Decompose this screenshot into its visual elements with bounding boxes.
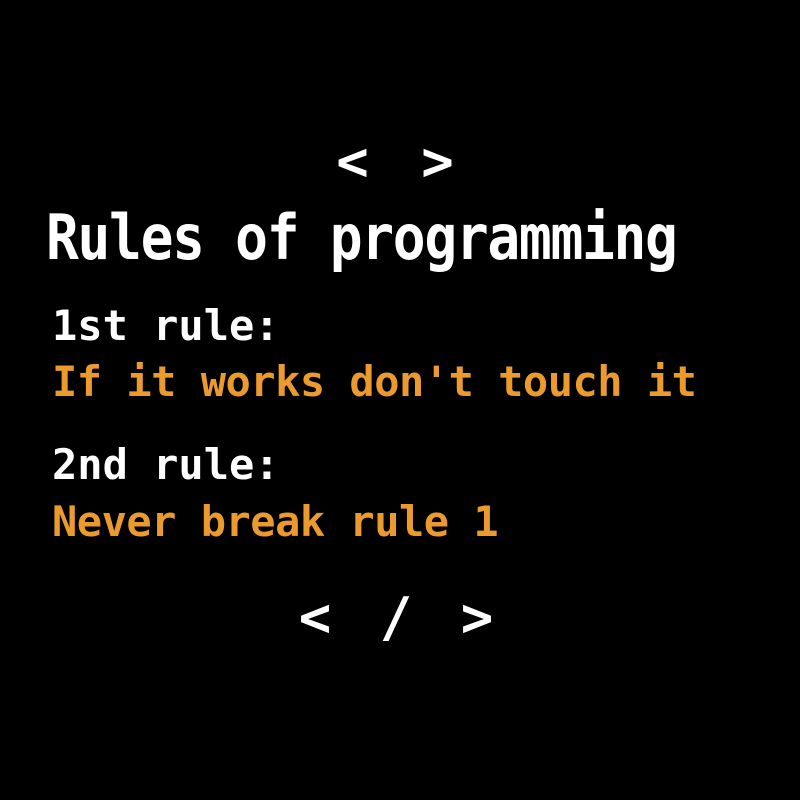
- poster-canvas: < > Rules of programming 1st rule: If it…: [0, 0, 800, 800]
- rule-label: 1st rule:: [52, 300, 792, 352]
- rule-label: 2nd rule:: [52, 438, 792, 492]
- rule-text: If it works don't touch it: [52, 352, 792, 412]
- code-tag-close-icon: < / >: [0, 586, 800, 650]
- rule-item: 2nd rule: Never break rule 1: [52, 438, 792, 552]
- rule-text: Never break rule 1: [52, 492, 792, 552]
- page-title: Rules of programming: [46, 198, 671, 278]
- code-tag-open-icon: < >: [0, 132, 800, 192]
- rule-item: 1st rule: If it works don't touch it: [52, 300, 792, 412]
- rules-list: 1st rule: If it works don't touch it 2nd…: [52, 300, 792, 578]
